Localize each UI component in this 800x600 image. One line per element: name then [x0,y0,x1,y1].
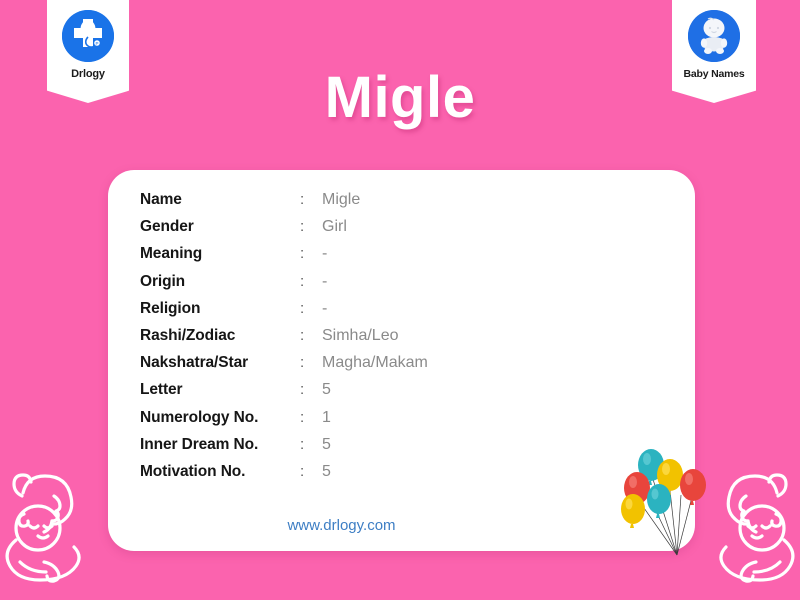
row-value: - [322,245,327,263]
row-separator: : [300,245,322,262]
row-value: Simha/Leo [322,327,399,345]
table-row: Rashi/Zodiac : Simha/Leo [140,327,540,354]
page-title: Migle [0,64,800,131]
table-row: Letter : 5 [140,381,540,408]
row-label: Rashi/Zodiac [140,327,300,345]
row-separator: : [300,218,322,235]
baby-name-card-page: P Drlogy Baby Names Migle [0,0,800,600]
name-details-list: Name : Migle Gender : Girl Meaning : - O… [140,191,540,490]
table-row: Inner Dream No. : 5 [140,436,540,463]
row-label: Origin [140,273,300,291]
row-value: Migle [322,191,360,209]
row-value: 5 [322,463,331,481]
row-separator: : [300,381,322,398]
row-value: - [322,300,327,318]
baby-icon [688,10,740,62]
row-value: Magha/Makam [322,354,428,372]
row-separator: : [300,409,322,426]
row-separator: : [300,354,322,371]
row-separator: : [300,436,322,453]
row-label: Letter [140,381,300,399]
row-label: Nakshatra/Star [140,354,300,372]
row-separator: : [300,463,322,480]
table-row: Name : Migle [140,191,540,218]
row-separator: : [300,327,322,344]
website-link[interactable]: www.drlogy.com [108,517,695,534]
table-row: Meaning : - [140,245,540,272]
table-row: Nakshatra/Star : Magha/Makam [140,354,540,381]
row-label: Inner Dream No. [140,436,300,454]
row-label: Numerology No. [140,409,300,427]
row-label: Gender [140,218,300,236]
row-label: Religion [140,300,300,318]
table-row: Numerology No. : 1 [140,409,540,436]
mother-and-baby-illustration [692,466,800,600]
row-value: Girl [322,218,347,236]
row-value: - [322,273,327,291]
table-row: Gender : Girl [140,218,540,245]
name-details-card: Name : Migle Gender : Girl Meaning : - O… [108,170,695,551]
mother-and-baby-illustration [0,466,108,600]
table-row: Origin : - [140,273,540,300]
row-value: 1 [322,409,331,427]
row-value: 5 [322,381,331,399]
row-separator: : [300,300,322,317]
doctor-medical-cross-icon: P [62,10,114,62]
svg-text:P: P [95,41,98,46]
row-separator: : [300,273,322,290]
row-value: 5 [322,436,331,454]
row-separator: : [300,191,322,208]
row-label: Motivation No. [140,463,300,481]
table-row: Religion : - [140,300,540,327]
table-row: Motivation No. : 5 [140,463,540,490]
row-label: Meaning [140,245,300,263]
row-label: Name [140,191,300,209]
